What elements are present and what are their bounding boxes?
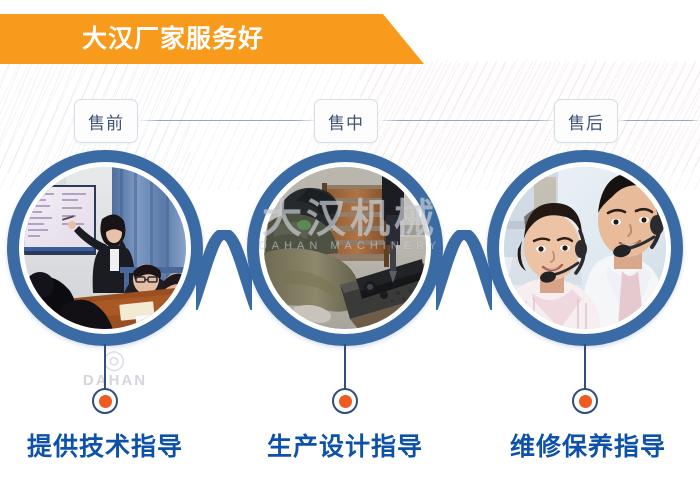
marker-dot-icon [579, 395, 592, 408]
ring-joint-2-3 [436, 230, 492, 310]
caption-stage-3: 维修保养指导 [468, 430, 700, 464]
stage-badge-pre-sales: 售前 [74, 99, 138, 143]
photo-service-agents [504, 167, 666, 329]
marker-dot-icon [99, 395, 112, 408]
marker-bullet-2 [332, 388, 358, 414]
watermark-logo-mark: ◎ [55, 346, 175, 372]
stem-connector-3 [584, 344, 586, 391]
marker-dot-icon [339, 395, 352, 408]
badge-connector-line-1 [138, 120, 318, 121]
service-flow-infographic: 大汉厂家服务好 售前 售中 售后 [0, 0, 700, 481]
stage-node-1 [7, 150, 203, 346]
banner-title: 大汉厂家服务好 [82, 20, 264, 58]
stage-node-3 [487, 150, 683, 346]
photo-training-room [24, 167, 186, 329]
watermark-logo: ◎ DAHAN [55, 346, 175, 389]
stage-badge-after-sales: 售后 [554, 99, 618, 143]
watermark-logo-text: DAHAN [83, 372, 147, 389]
stem-connector-1 [104, 344, 106, 391]
marker-bullet-3 [572, 388, 598, 414]
caption-stage-1: 提供技术指导 [0, 430, 225, 464]
marker-bullet-1 [92, 388, 118, 414]
caption-stage-2: 生产设计指导 [225, 430, 465, 464]
stage-badge-in-sales: 售中 [314, 99, 378, 143]
stem-connector-2 [344, 344, 346, 391]
badge-connector-line-2 [378, 120, 558, 121]
stage-node-2 [247, 150, 443, 346]
badge-connector-line-3 [618, 120, 700, 121]
ring-joint-1-2 [196, 230, 252, 310]
photo-workshop-machining [264, 167, 426, 329]
